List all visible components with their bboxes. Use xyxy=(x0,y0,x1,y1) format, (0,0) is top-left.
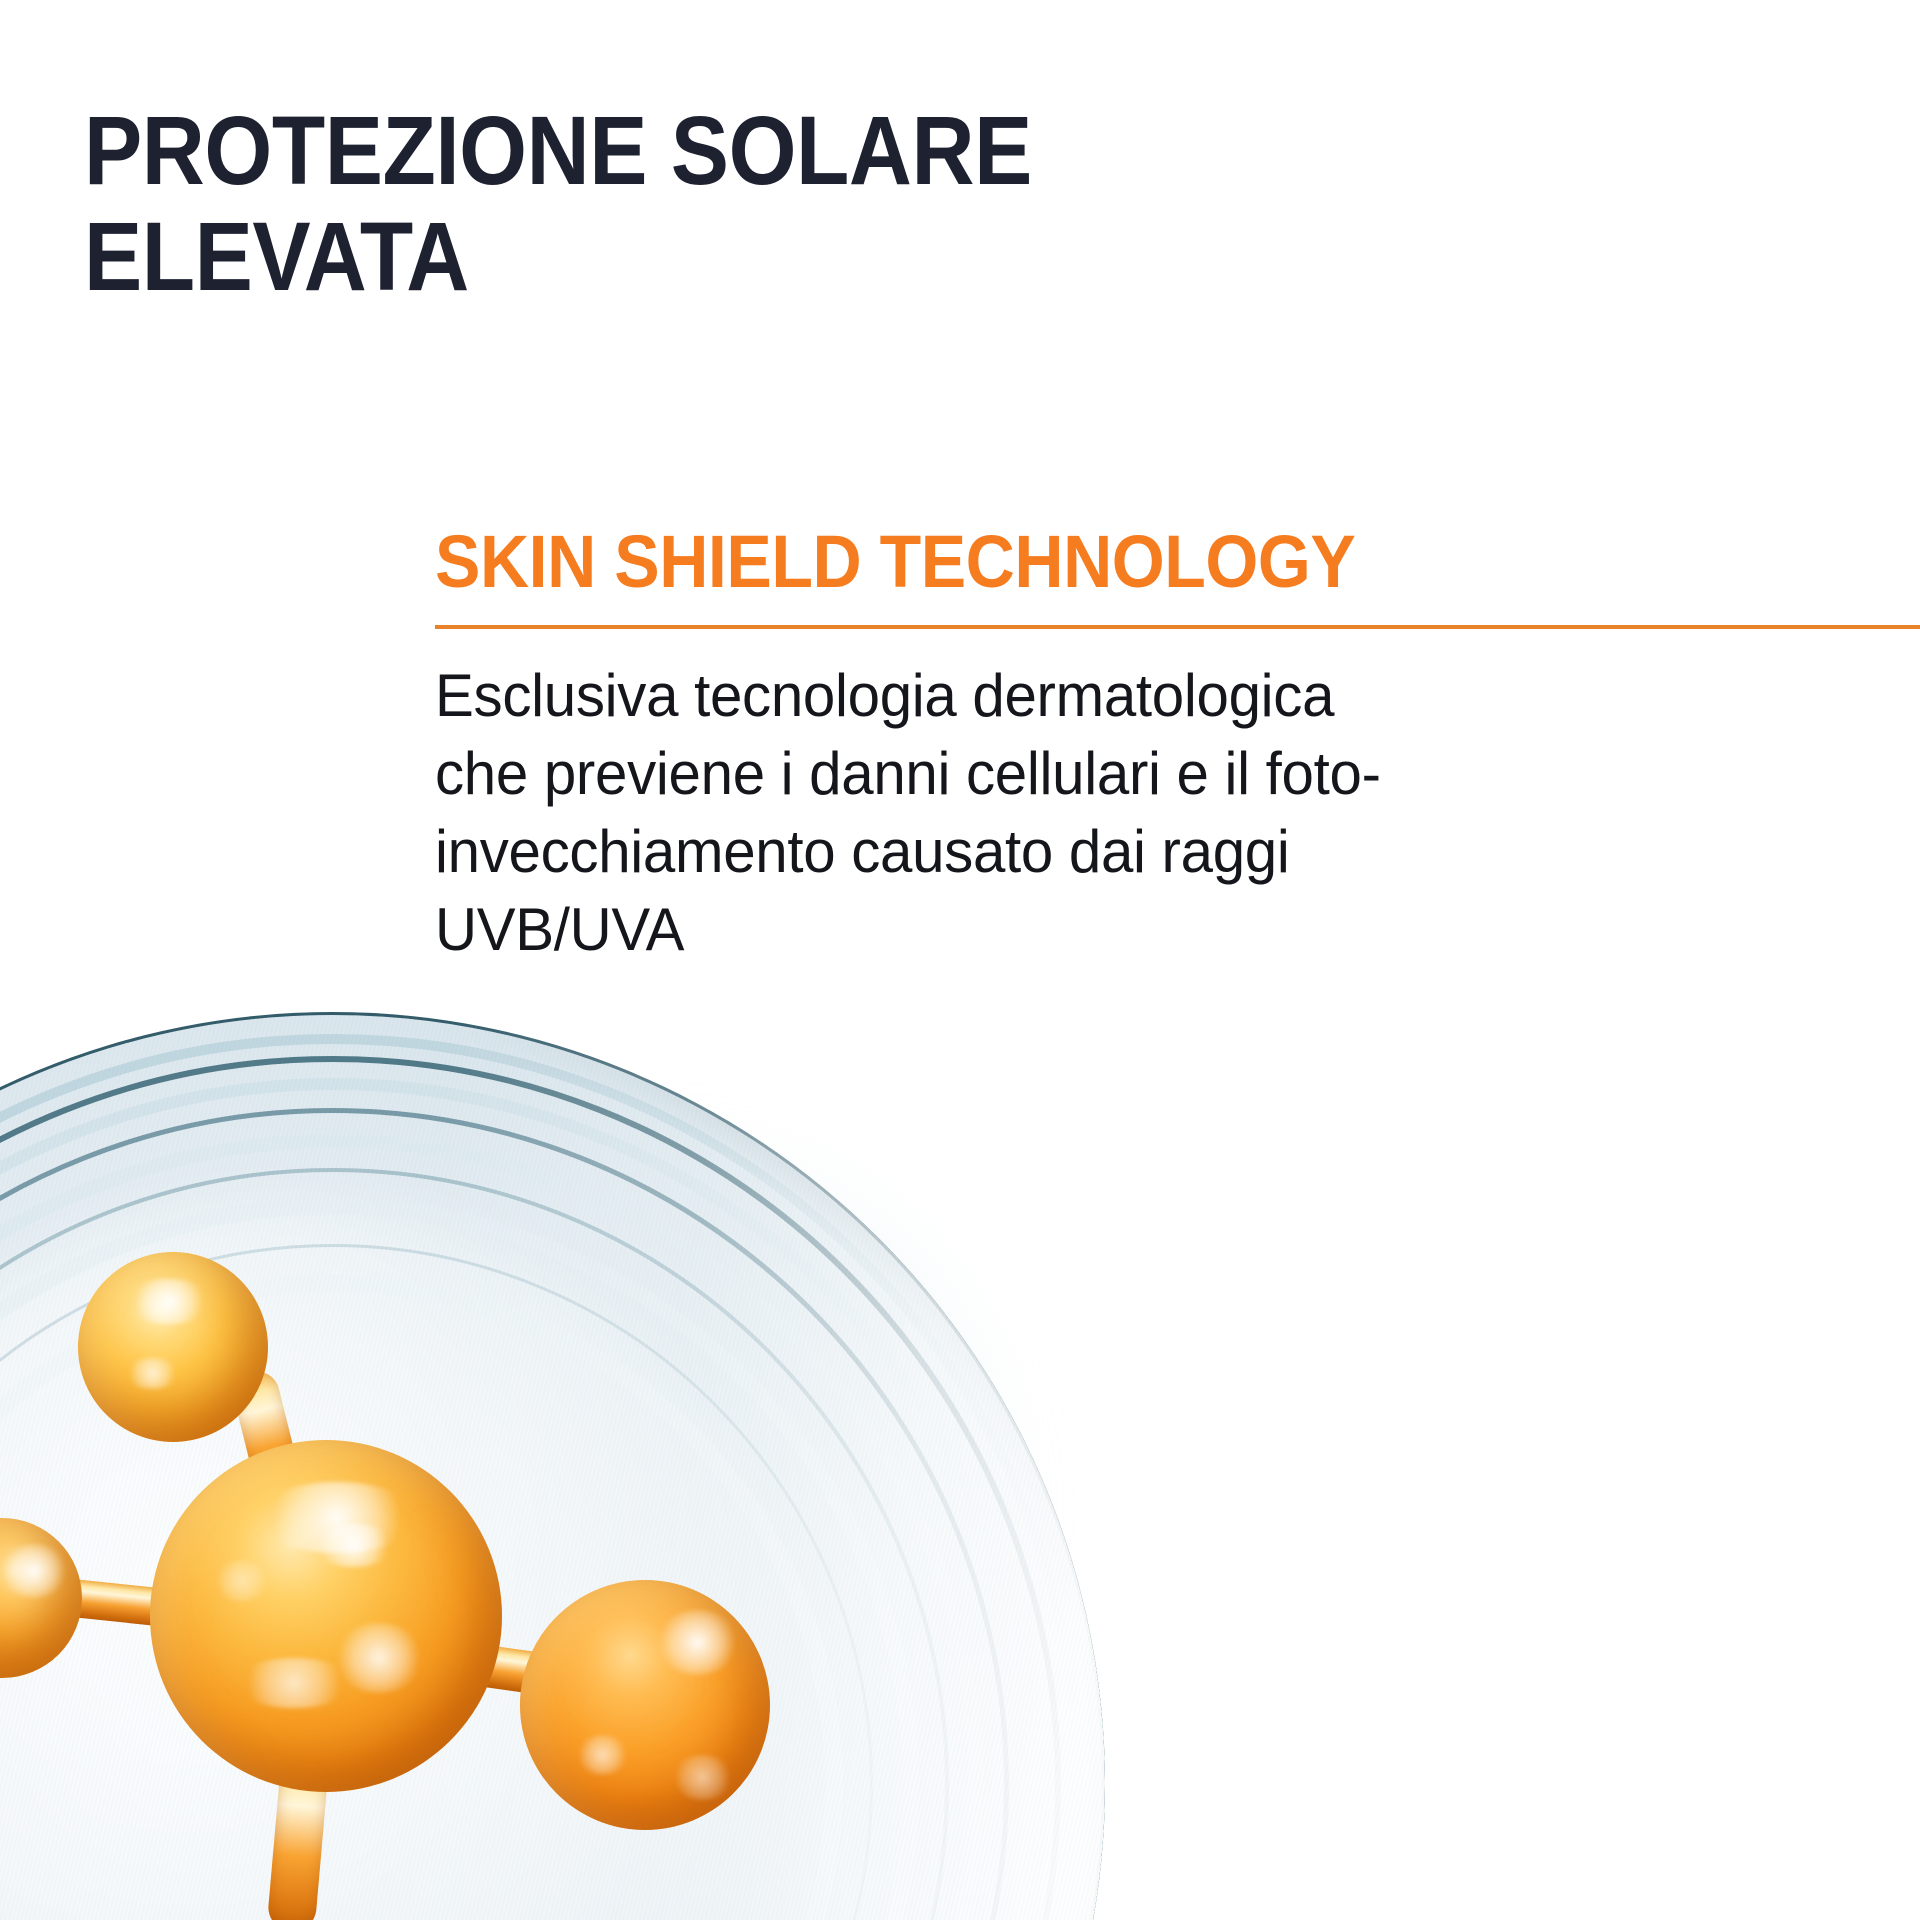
dish-edge-fade xyxy=(0,1012,1105,1920)
feature-text-block: SKIN SHIELD TECHNOLOGY Esclusiva tecnolo… xyxy=(435,525,1920,969)
atom-shading xyxy=(150,1440,502,1792)
molecule-bond xyxy=(447,1640,611,1704)
molecule-bond xyxy=(42,1576,215,1632)
molecule-atom xyxy=(150,1440,502,1792)
atom-highlight xyxy=(0,1544,69,1598)
atom-highlight xyxy=(575,1735,630,1775)
atom-highlight xyxy=(333,1623,425,1693)
petri-dish xyxy=(0,1012,1105,1920)
atom-shading xyxy=(0,1518,82,1678)
molecule-atom xyxy=(78,1252,268,1442)
dish-rim-ring xyxy=(0,1244,873,1920)
atom-shading xyxy=(78,1252,268,1442)
atom-highlight xyxy=(127,1279,211,1325)
dish-rim-ring xyxy=(0,1274,843,1920)
feature-subheading: SKIN SHIELD TECHNOLOGY xyxy=(435,525,1801,599)
molecule-bond xyxy=(229,1366,306,1505)
molecule-atom xyxy=(520,1580,770,1830)
dish-rim-ring xyxy=(0,1134,983,1920)
molecule-atom xyxy=(0,1518,82,1678)
glass-texture-overlay xyxy=(0,1012,1105,1920)
atom-highlight xyxy=(655,1610,740,1675)
dish-rim-ring xyxy=(0,1034,1083,1920)
dish-rim-shading xyxy=(0,1012,1105,1920)
divider xyxy=(435,625,1920,629)
atom-highlight xyxy=(312,1524,396,1566)
dish-rim-ring xyxy=(0,1168,949,1920)
promo-card: PROTEZIONE SOLARE ELEVATA SKIN SHIELD TE… xyxy=(0,0,1920,1920)
feature-description: Esclusiva tecnologia dermatologica che p… xyxy=(435,657,1434,969)
atom-shading xyxy=(520,1580,770,1830)
atom-highlight xyxy=(256,1482,418,1552)
page-title: PROTEZIONE SOLARE ELEVATA xyxy=(84,98,1164,309)
atom-highlight xyxy=(213,1560,269,1602)
dish-rim-ring xyxy=(0,1012,1105,1920)
atom-highlight xyxy=(124,1358,181,1388)
dish-rim-ring xyxy=(0,1078,1039,1920)
dish-rim-ring xyxy=(0,1108,1009,1920)
atom-highlight xyxy=(670,1755,735,1800)
dish-shadow xyxy=(340,1010,1240,1920)
atom-highlight xyxy=(234,1658,354,1707)
dish-inner-glow xyxy=(0,1197,796,1920)
dish-rim-ring xyxy=(0,1198,919,1920)
dish-rim-ring xyxy=(0,1056,1061,1920)
molecule-bond xyxy=(266,1750,330,1920)
